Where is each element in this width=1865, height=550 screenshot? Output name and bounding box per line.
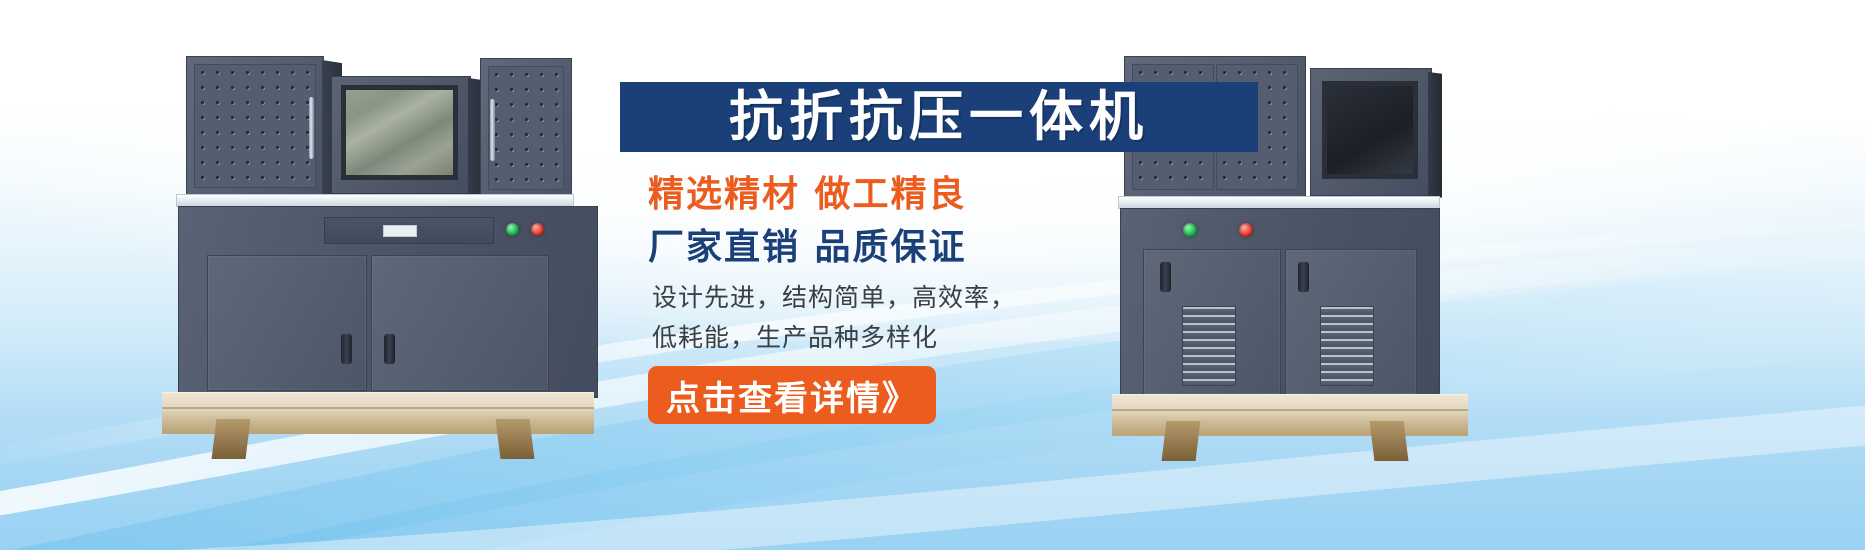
monitor-screen (341, 85, 458, 180)
ventilation-louver (1320, 306, 1374, 386)
door-handle (384, 334, 395, 364)
description-line-1: 设计先进，结构简单，高效率， (652, 278, 1016, 314)
left-machine-red-indicator (531, 223, 544, 236)
cabinet-handle (309, 97, 314, 159)
left-machine-wooden-pallet (162, 392, 594, 434)
pallet-seam (162, 407, 594, 409)
view-details-label: 点击查看详情》 (666, 371, 918, 420)
left-machine-perforated-cabinet-right (480, 58, 572, 198)
left-machine-body (178, 206, 598, 398)
tagline-orange: 精选精材 做工精良 (648, 165, 967, 217)
cabinet-handle (490, 99, 495, 161)
promo-copy-block: 抗折抗压一体机 精选精材 做工精良 厂家直销 品质保证 设计先进，结构简单，高效… (620, 60, 1320, 490)
left-machine-perforated-cabinet-left (186, 56, 324, 196)
left-machine-door-left (207, 255, 367, 391)
control-label-plate (383, 225, 417, 237)
left-machine-control-strip (324, 217, 494, 244)
door-handle (341, 334, 352, 364)
perforated-panel (194, 64, 316, 188)
perforated-panel (488, 66, 564, 190)
description-line-2: 低耗能，生产品种多样化 (652, 318, 938, 354)
right-machine-monitor (1310, 68, 1432, 196)
headline-bar: 抗折抗压一体机 (620, 82, 1258, 152)
left-machine-door-right (371, 255, 549, 391)
headline-text: 抗折抗压一体机 (729, 90, 1149, 144)
product-image-left (168, 44, 588, 434)
tagline-navy: 厂家直销 品质保证 (648, 218, 967, 270)
left-machine-green-indicator (506, 223, 519, 236)
monitor-screen (1322, 81, 1418, 179)
promo-banner: 抗折抗压一体机 精选精材 做工精良 厂家直销 品质保证 设计先进，结构简单，高效… (0, 0, 1865, 550)
right-monitor-side-depth (1428, 72, 1442, 198)
left-machine-monitor (331, 76, 471, 194)
view-details-button[interactable]: 点击查看详情》 (648, 366, 936, 424)
